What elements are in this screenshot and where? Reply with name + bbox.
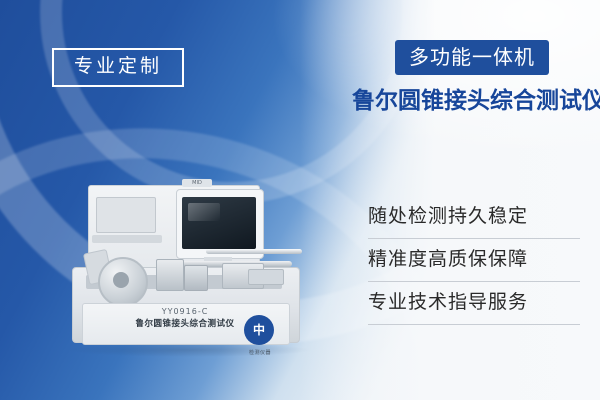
machine-back-panel-slot xyxy=(92,235,162,243)
headline-block: 多功能一体机 鲁尔圆锥接头综合测试仪 xyxy=(352,40,592,114)
feature-item-1: 随处检测持久稳定 xyxy=(368,196,580,239)
machine-fixture-block-left xyxy=(156,259,184,291)
machine-handwheel-hub xyxy=(113,272,129,288)
machine-ground-shadow xyxy=(66,343,312,357)
feature-list: 随处检测持久稳定 精准度高质保保障 专业技术指导服务 xyxy=(368,196,580,325)
headline-title: 鲁尔圆锥接头综合测试仪 xyxy=(352,89,592,114)
product-photo: MID YY0916-C 鲁尔圆锥接头综合测试仪 中 检测仪器 xyxy=(72,175,332,375)
brand-logo-icon: 中 xyxy=(244,315,274,345)
machine-screen-glare xyxy=(188,203,220,221)
machine-fixture-block-right xyxy=(184,265,208,291)
headline-pill: 多功能一体机 xyxy=(395,40,549,75)
machine-slider-extension xyxy=(248,269,284,285)
machine-back-panel-window xyxy=(96,197,156,233)
promo-banner: 专业定制 多功能一体机 鲁尔圆锥接头综合测试仪 随处检测持久稳定 精准度高质保保… xyxy=(0,0,600,400)
feature-item-3: 专业技术指导服务 xyxy=(368,282,580,325)
machine-guide-rod xyxy=(206,249,302,254)
custom-service-tag: 专业定制 xyxy=(52,48,184,87)
machine-top-badge: MID xyxy=(182,179,212,187)
feature-item-2: 精准度高质保保障 xyxy=(368,239,580,282)
